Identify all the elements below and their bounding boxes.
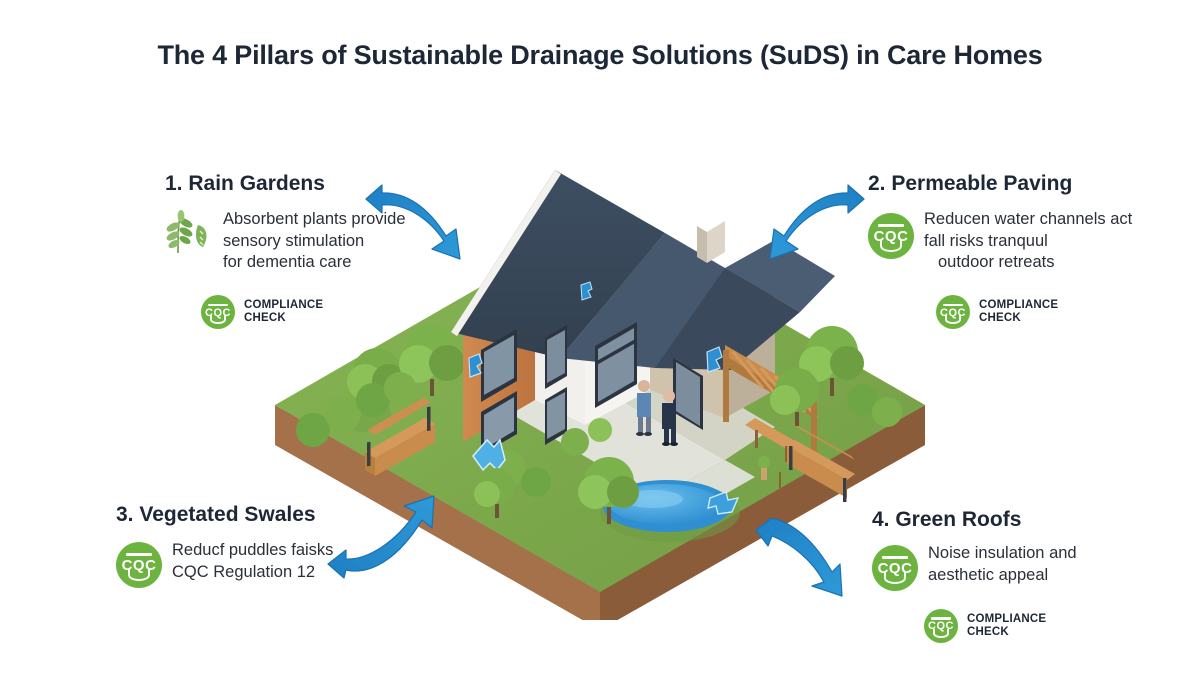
pillar-4-line-1: Noise insulation and (928, 543, 1077, 564)
compliance-line-1: COMPLIANCE (244, 299, 323, 313)
pillar-3-line-2: CQC Regulation 12 (172, 562, 333, 583)
compliance-line-2: CHECK (979, 312, 1058, 326)
infographic-canvas: The 4 Pillars of Sustainable Drainage So… (0, 0, 1200, 675)
pillar-1-line-3: for dementia care (223, 252, 406, 273)
cqc-smile (933, 629, 949, 638)
pillar-2-line-1: Reducen water channels act (924, 209, 1132, 230)
cqc-badge-icon: CQC (116, 542, 162, 588)
cqc-badge-icon: CQC (936, 295, 970, 329)
pillar-1-body: Absorbent plants provide sensory stimula… (223, 209, 406, 273)
cqc-smile (884, 572, 906, 584)
cqc-badge-icon: CQC (872, 545, 918, 591)
cqc-badge-icon: CQC (868, 213, 914, 259)
cqc-bar (878, 224, 904, 227)
pillar-vegetated-swales: 3. Vegetated Swales CQC Reducf puddles f… (116, 503, 386, 588)
arrow-bottom-right (742, 498, 872, 603)
pillar-green-roofs: 4. Green Roofs CQC Noise insulation and … (872, 508, 1132, 643)
compliance-line-1: COMPLIANCE (979, 299, 1058, 313)
pillar-2-body: Reducen water channels act fall risks tr… (924, 209, 1132, 273)
compliance-line-1: COMPLIANCE (967, 613, 1046, 627)
page-title: The 4 Pillars of Sustainable Drainage So… (0, 40, 1200, 71)
pillar-3-heading: 3. Vegetated Swales (116, 503, 386, 526)
pillar-4-heading: 4. Green Roofs (872, 508, 1132, 531)
cqc-smile (945, 315, 961, 324)
pillar-rain-gardens: 1. Rain Gardens (165, 172, 425, 329)
pillar-1-line-1: Absorbent plants provide (223, 209, 406, 230)
cqc-bar (931, 617, 950, 619)
compliance-check-label-2: COMPLIANCE CHECK (979, 299, 1058, 326)
pillar-3-line-1: Reducf puddles faisks (172, 540, 333, 561)
cqc-smile (128, 569, 150, 581)
compliance-check-stamp-4: CQC COMPLIANCE CHECK (924, 609, 1132, 643)
pillar-1-heading: 1. Rain Gardens (165, 172, 425, 195)
compliance-line-2: CHECK (244, 312, 323, 326)
compliance-check-label-1: COMPLIANCE CHECK (244, 299, 323, 326)
pillar-3-body: Reducf puddles faisks CQC Regulation 12 (172, 540, 333, 583)
pillar-permeable-paving: 2. Permeable Paving CQC Reducen water ch… (868, 172, 1138, 329)
pillar-2-line-3: outdoor retreats (924, 252, 1132, 273)
compliance-check-stamp-1: CQC COMPLIANCE CHECK (201, 295, 425, 329)
cqc-smile (880, 240, 902, 252)
pillar-2-line-2: fall risks tranquul (924, 231, 1132, 252)
pillar-2-heading: 2. Permeable Paving (868, 172, 1138, 195)
compliance-check-label-4: COMPLIANCE CHECK (967, 613, 1046, 640)
pillar-4-line-2: aesthetic appeal (928, 565, 1077, 586)
compliance-check-stamp-2: CQC COMPLIANCE CHECK (936, 295, 1138, 329)
arrow-top-right (748, 163, 878, 268)
cqc-badge-icon: CQC (924, 609, 958, 643)
cqc-badge-icon: CQC (201, 295, 235, 329)
cqc-bar (943, 304, 962, 306)
cqc-bar (882, 556, 908, 559)
compliance-line-2: CHECK (967, 626, 1046, 640)
cqc-smile (210, 315, 226, 324)
pillar-4-body: Noise insulation and aesthetic appeal (928, 543, 1077, 586)
cqc-bar (126, 553, 152, 556)
pillar-1-line-2: sensory stimulation (223, 231, 406, 252)
cqc-bar (208, 304, 227, 306)
leaf-icon (165, 209, 213, 257)
